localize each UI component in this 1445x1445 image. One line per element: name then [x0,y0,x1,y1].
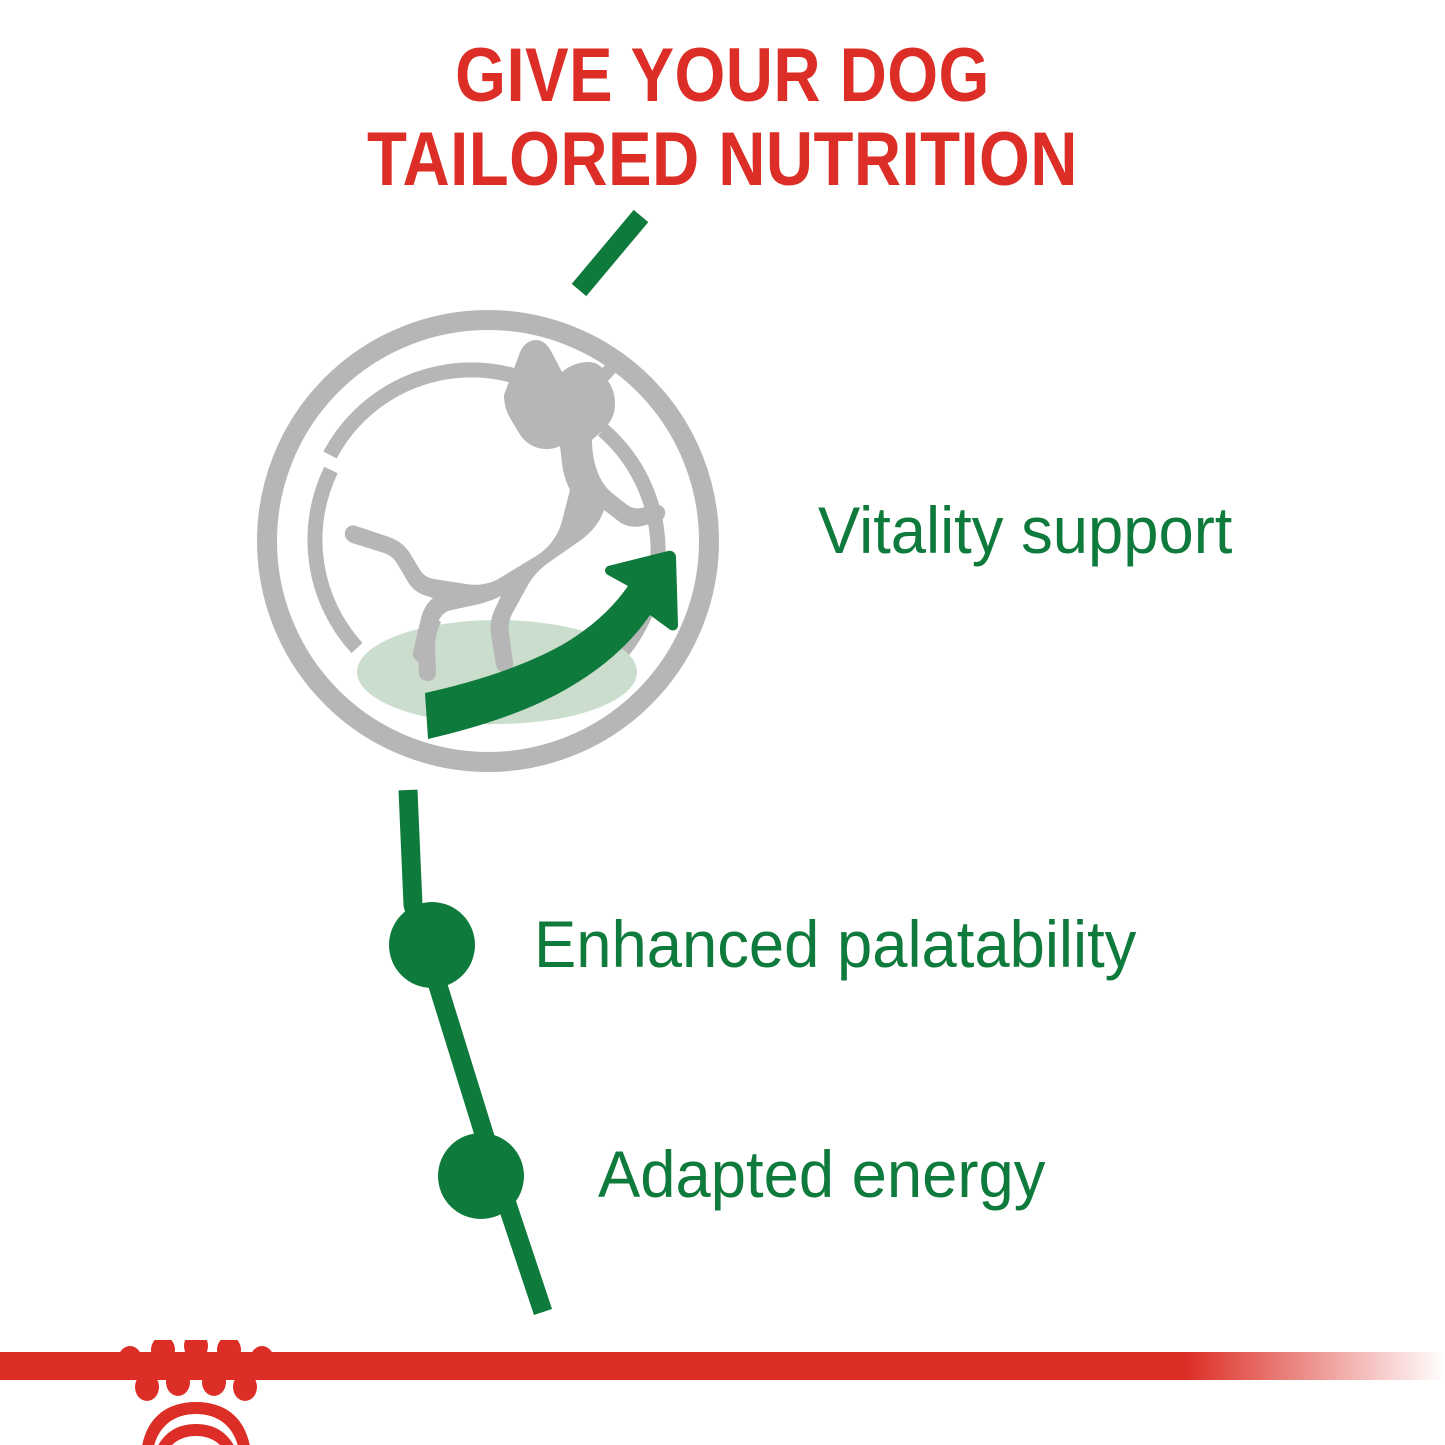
connector-line [408,790,543,1312]
headline-line-2: TAILORED NUTRITION [101,118,1344,202]
connector-dot-1 [389,902,475,988]
inner-arc-left [315,470,357,648]
connector-top-tick [579,216,641,290]
headline-line-1: GIVE YOUR DOG [101,34,1344,118]
upward-arrow-icon [425,551,678,739]
inner-arc-top [330,370,570,455]
jumping-dog-silhouette [345,340,665,681]
footer-brand-bar [0,1340,1445,1445]
benefit-label-energy: Adapted energy [598,1138,1045,1210]
infographic-graphics [0,0,1445,1445]
inner-arc-bottom [393,685,580,717]
page-title: GIVE YOUR DOG TAILORED NUTRITION [101,34,1344,202]
benefit-label-vitality: Vitality support [818,494,1232,566]
infographic-page: GIVE YOUR DOG TAILORED NUTRITION [0,0,1445,1445]
outer-ring [267,320,709,762]
royal-canin-crown-logo [118,1340,274,1445]
connector-dot-2 [438,1133,524,1219]
inner-arc-right [603,430,658,668]
ground-shadow [357,620,637,724]
benefit-label-palatability: Enhanced palatability [534,908,1136,980]
